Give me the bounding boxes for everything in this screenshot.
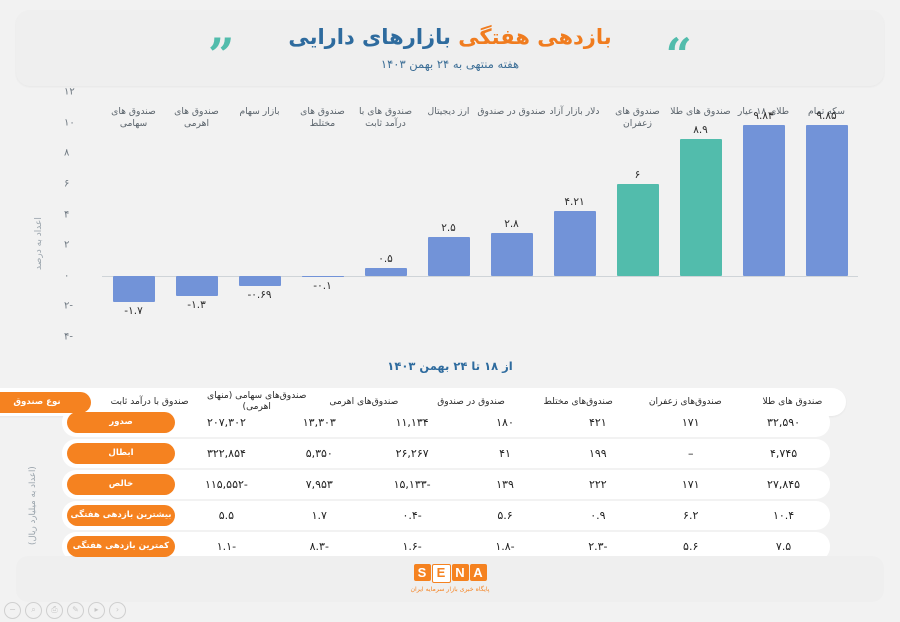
bar-value-label: -۰.۶۹ [247,289,271,301]
table-cell: ۱۷۱ [644,478,737,491]
chart-y-axis-label: اعداد به درصد [34,217,44,270]
zoom-in-icon[interactable]: ⌕ [25,602,42,619]
table-cell: ۱۳۹ [459,478,552,491]
y-tick-0: ۱۲ [64,87,98,98]
logo-subtitle: پایگاه خبری بازار سرمایه ایران [16,586,884,593]
page-subtitle: هفته منتهی به ۲۴ بهمن ۱۴۰۳ [16,57,884,71]
table-cell: ۱۱,۱۳۴ [366,416,459,429]
y-tick-7: -۲ [64,301,98,312]
page-title-part1: بازدهی هفتگی [458,25,611,49]
bar-column: -۰.۶۹ [228,92,291,337]
bar[interactable] [176,276,218,296]
bar-chart: اعداد به درصد صندوق های سهامیصندوق های ا… [16,92,884,357]
y-tick-8: -۴ [64,332,98,343]
column-header: صندوق‌های اهرمی [310,397,417,408]
table-corner-label[interactable]: نوع صندوق [0,392,96,413]
print-icon[interactable]: ⎙ [46,602,63,619]
y-tick-3: ۶ [64,178,98,189]
logo-letter-n: N [452,564,469,581]
bar-column: ۹.۸۳ [732,92,795,337]
column-header: صندوق‌های زعفران [632,397,739,408]
bar-column: ۲.۸ [480,92,543,337]
table-cell: -۱.۱ [180,540,273,553]
bar-value-label: ۶ [635,169,641,181]
column-header: صندوق های طلا [739,397,846,408]
column-header: صندوق با درآمد ثابت [96,397,203,408]
bar-column: ۸.۹ [669,92,732,337]
bar[interactable] [554,211,596,275]
play-icon[interactable]: ▸ [88,602,105,619]
table-cell: -۱۱۵,۵۵۲ [180,478,273,491]
header-text-block: بازدهی هفتگی بازارهای دارایی هفته منتهی … [16,24,884,71]
table-cell: ۵.۵ [180,509,273,522]
page-title-part2: بازارهای دارایی [288,25,451,49]
y-tick-4: ۴ [64,209,98,220]
bar[interactable] [365,268,407,276]
row-label-pill: کمترین بازدهی هفتگی [67,536,175,557]
bar-column: -۱.۳ [165,92,228,337]
column-header: صندوق‌های مختلط [525,397,632,408]
y-tick-1: ۱۰ [64,117,98,128]
table-cell: -۲.۳ [551,540,644,553]
bar[interactable] [806,125,848,276]
bar[interactable] [239,276,281,287]
table-cell: -۸.۳ [273,540,366,553]
table-cell: ۶.۲ [644,509,737,522]
table-cell: ۲۶,۲۶۷ [366,447,459,460]
bar-column: ۰.۵ [354,92,417,337]
bar-value-label: ۹.۸۵ [816,110,836,122]
row-label[interactable]: خالص [62,474,180,495]
bar-value-label: -۰.۱ [313,280,331,292]
table-cell: ۷,۹۵۳ [273,478,366,491]
table-cell: ۱۷۱ [644,416,737,429]
row-label-pill: ابطال [67,443,175,464]
bar-value-label: ۰.۵ [378,253,393,265]
chart-bars: -۱.۷-۱.۳-۰.۶۹-۰.۱۰.۵۲.۵۲.۸۴.۲۱۶۸.۹۹.۸۳۹.… [102,92,858,337]
bar[interactable] [680,139,722,275]
bar-value-label: -۱.۳ [187,299,205,311]
bar-value-label: ۸.۹ [693,124,708,136]
poster-root: “ ” بازدهی هفتگی بازارهای دارایی هفته من… [0,0,900,622]
column-header: صندوق‌های سهامی (منهای اهرمی) [203,391,310,413]
table-cell: ۳۲,۵۹۰ [737,416,830,429]
bar-value-label: ۲.۸ [504,218,519,230]
bar[interactable] [617,184,659,276]
table-cell: ۱.۷ [273,509,366,522]
bar[interactable] [302,276,344,278]
row-label[interactable]: بیشترین بازدهی هفتگی [62,505,180,526]
footer-banner: SENA پایگاه خبری بازار سرمایه ایران [16,556,884,602]
table-cell: -۱.۸ [459,540,552,553]
bar-column: ۶ [606,92,669,337]
table-cell: ۵.۶ [459,509,552,522]
bar-value-label: ۲.۵ [441,222,456,234]
table-cell: ۱۳,۳۰۳ [273,416,366,429]
table-row: ۴,۷۴۵–۱۹۹۴۱۲۶,۲۶۷۵,۳۵۰۳۲۲,۸۵۴ابطال [62,439,830,468]
viewer-toolbar[interactable]: ‹▸✎⎙⌕− [4,600,126,620]
bar-column: ۹.۸۵ [795,92,858,337]
table-cell: – [644,447,737,460]
row-label[interactable]: صدور [62,412,180,433]
bar-column: -۱.۷ [102,92,165,337]
back-icon[interactable]: ‹ [109,602,126,619]
table-row: ۲۷,۸۴۵۱۷۱۲۲۲۱۳۹-۱۵,۱۳۳۷,۹۵۳-۱۱۵,۵۵۲خالص [62,470,830,499]
table-cell: -۰.۴ [366,509,459,522]
table-cell: ۴۲۱ [551,416,644,429]
table-cell: ۵,۳۵۰ [273,447,366,460]
bar-column: ۴.۲۱ [543,92,606,337]
table-cell: ۴۱ [459,447,552,460]
y-tick-2: ۸ [64,148,98,159]
bar-value-label: ۹.۸۳ [753,110,773,122]
row-label[interactable]: کمترین بازدهی هفتگی [62,536,180,557]
edit-icon[interactable]: ✎ [67,602,84,619]
header-banner: “ ” بازدهی هفتگی بازارهای دارایی هفته من… [16,10,884,86]
sena-logo: SENA پایگاه خبری بازار سرمایه ایران [16,562,884,593]
logo-letter-a: A [470,564,487,581]
bar-column: -۰.۱ [291,92,354,337]
bar-value-label: -۱.۷ [124,305,142,317]
bar[interactable] [113,276,155,302]
row-label-pill: نوع صندوق [0,392,91,413]
data-table: صندوق های طلاصندوق‌های زعفرانصندوق‌های م… [62,378,830,563]
table-cell: ۴,۷۴۵ [737,447,830,460]
logo-letter-e: E [432,564,451,583]
y-tick-6: ۰ [64,270,98,281]
bar[interactable] [428,237,470,275]
row-label[interactable]: ابطال [62,443,180,464]
table-cell: ۲۰۷,۳۰۲ [180,416,273,429]
bar-column: ۲.۵ [417,92,480,337]
table-cell: ۳۲۲,۸۵۴ [180,447,273,460]
logo-letters: SENA [413,562,487,583]
row-label-pill: بیشترین بازدهی هفتگی [67,505,175,526]
column-header: صندوق در صندوق [417,397,524,408]
bar[interactable] [491,233,533,276]
table-row: ۱۰.۴۶.۲۰.۹۵.۶-۰.۴۱.۷۵.۵بیشترین بازدهی هف… [62,501,830,530]
table-cell: -۱۵,۱۳۳ [366,478,459,491]
table-row: ۳۲,۵۹۰۱۷۱۴۲۱۱۸۰۱۱,۱۳۴۱۳,۳۰۳۲۰۷,۳۰۲صدور [62,408,830,437]
table-cell: ۵.۶ [644,540,737,553]
table-cell: ۱۸۰ [459,416,552,429]
table-cell: ۱۹۹ [551,447,644,460]
row-label-pill: صدور [67,412,175,433]
table-cell: ۱۰.۴ [737,509,830,522]
chart-y-axis-ticks: ۱۲۱۰۸۶۴۲۰-۲-۴ [62,92,98,337]
table-unit-label: (اعداد به میلیارد ریال) [28,466,38,545]
table-cell: ۲۷,۸۴۵ [737,478,830,491]
y-tick-5: ۲ [64,240,98,251]
table-cell: ۷.۵ [737,540,830,553]
logo-letter-s: S [414,564,431,581]
zoom-out-icon[interactable]: − [4,602,21,619]
row-label-pill: خالص [67,474,175,495]
table-cell: -۱.۶ [366,540,459,553]
table-cell: ۲۲۲ [551,478,644,491]
table-caption: از ۱۸ تا ۲۴ بهمن ۱۴۰۳ [0,359,900,373]
bar-value-label: ۴.۲۱ [564,196,584,208]
page-title: بازدهی هفتگی بازارهای دارایی [16,24,884,50]
table-cell: ۰.۹ [551,509,644,522]
bar[interactable] [743,125,785,276]
